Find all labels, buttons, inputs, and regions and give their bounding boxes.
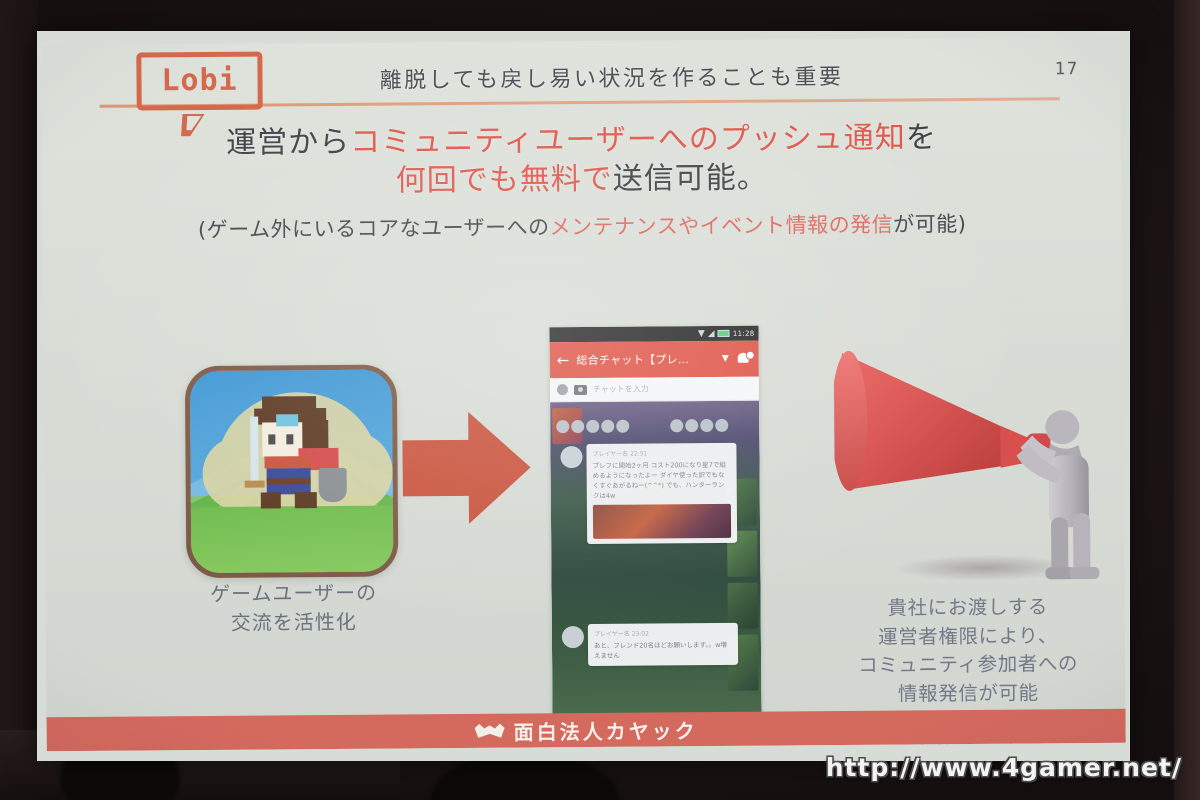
headline-1-black-a: 運営から — [226, 125, 350, 161]
back-arrow-icon[interactable]: ← — [557, 353, 570, 368]
headline-2-black: 送信可能。 — [613, 161, 768, 197]
right-arrow-icon — [402, 409, 531, 528]
chat-input-placeholder[interactable]: チャットを入力 — [593, 383, 649, 394]
brand-footer-bar: 面白法人カヤック — [47, 709, 1126, 751]
right-caption-line-3: コミュニティ参加者への — [794, 650, 1126, 681]
right-caption-line-1: 貴社にお渡しする — [794, 593, 1126, 624]
headline-2-red: 何回でも無料で — [396, 162, 613, 199]
brand-name: 面白法人カヤック — [514, 715, 698, 745]
message-author: プレイヤー名 22:51 — [592, 448, 730, 458]
chat-input-row[interactable]: チャットを入力 — [550, 377, 759, 403]
headline-subline: (ゲーム外にいるコアなユーザーへのメンテナンスやイベント情報の発信が可能) — [43, 207, 1122, 245]
avatar — [560, 446, 582, 468]
projection-screen: 離脱しても戻し易い状況を作ることも重要 17 Lobi 運営からコミュニティユー… — [37, 31, 1130, 761]
chat-message[interactable]: プレイヤー名 23:02 あと、フレンド20名ほどお願いします。。w増えません — [588, 623, 738, 666]
headline-block: 運営からコミュニティユーザーへのプッシュ通知を 何回でも無料で送信可能。 — [42, 117, 1122, 203]
presentation-slide: 離脱しても戻し易い状況を作ることも重要 17 Lobi 運営からコミュニティユー… — [41, 37, 1126, 751]
chat-message[interactable]: プレイヤー名 22:51 プレフに開始2ヶ月 コスト200になり星7で組めるよう… — [586, 443, 737, 544]
watermark-url: http://www.4gamer.net/ — [826, 753, 1182, 782]
message-text: あと、フレンド20名ほどお願いします。。w増えません — [594, 640, 732, 661]
wall-left — [0, 0, 38, 800]
subline-red: メンテナンスやイベント情報の発信 — [550, 213, 894, 240]
camera-icon[interactable] — [574, 384, 587, 394]
chat-room-title: 総合チャット【プレ… — [576, 351, 715, 368]
reaction-avatar-row — [556, 420, 629, 434]
headline-1-black-b: を — [906, 120, 937, 155]
subline-black-b: が可能) — [893, 212, 966, 237]
chevron-down-icon[interactable]: ▼ — [722, 354, 729, 364]
battery-icon — [718, 330, 730, 337]
reaction-avatar-row — [670, 419, 728, 432]
right-caption-line-4: 情報発信が可能 — [794, 679, 1125, 710]
left-caption-line-1: ゲームユーザーの — [155, 578, 431, 609]
megaphone-illustration — [833, 315, 1125, 587]
emoji-icon[interactable] — [557, 384, 568, 395]
signal-icon — [708, 330, 715, 337]
status-time: 11:28 — [733, 329, 755, 337]
pixel-hero-character-icon — [236, 392, 365, 541]
notification-bell-icon[interactable] — [736, 351, 752, 367]
page-title: 離脱しても戻し易い状況を作ることも重要 — [271, 58, 951, 95]
right-caption-line-2: 運営者権限により、 — [794, 621, 1126, 652]
headline-line-2: 何回でも無料で送信可能。 — [42, 156, 1121, 203]
message-image[interactable] — [593, 504, 731, 539]
message-text: プレフに開始2ヶ月 コスト200になり星7で組めるようになったよー ダイヤ使った… — [593, 460, 731, 501]
lobi-logo-text: Lobi — [161, 66, 237, 97]
subline-black-a: (ゲーム外にいるコアなユーザーへの — [198, 215, 550, 242]
lobi-logo: Lobi — [136, 52, 262, 111]
left-caption: ゲームユーザーの 交流を活性化 — [155, 578, 431, 638]
message-author: プレイヤー名 23:02 — [594, 628, 732, 638]
left-caption-line-2: 交流を活性化 — [156, 607, 432, 638]
wall-right — [1174, 0, 1200, 800]
page-number: 17 — [1055, 59, 1079, 79]
phone-screenshot: 11:28 ← 総合チャット【プレ… ▼ チャットを入力 — [549, 326, 761, 718]
wifi-icon — [698, 330, 705, 337]
game-app-icon — [185, 364, 399, 578]
headline-1-red: コミュニティユーザーへのプッシュ通知 — [350, 120, 906, 159]
android-status-bar: 11:28 — [549, 326, 758, 343]
avatar — [562, 626, 584, 648]
chat-feed: プレイヤー名 22:51 プレフに開始2ヶ月 コスト200になり星7で組めるよう… — [550, 401, 761, 718]
kayac-bird-mark-icon — [475, 724, 505, 738]
app-bar: ← 総合チャット【プレ… ▼ — [550, 341, 759, 379]
